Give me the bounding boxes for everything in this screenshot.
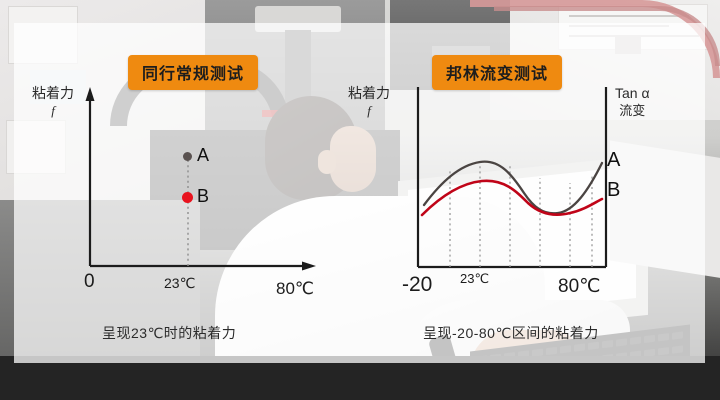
right-x-tick-80c: 80℃ — [558, 275, 600, 298]
right-panel-caption: 呈现-20-80℃区间的粘着力 — [423, 323, 599, 343]
data-point-b[interactable] — [182, 192, 193, 203]
series-a-label: A — [607, 149, 620, 172]
series-b-label: B — [607, 179, 620, 202]
left-x-axis-arrowhead — [302, 262, 316, 271]
curve-series-b[interactable] — [422, 181, 602, 215]
data-point-b-label: B — [197, 186, 209, 207]
right-chart-svg — [362, 23, 705, 363]
left-x-tick-80c: 80℃ — [276, 279, 314, 299]
right-x-tick-23c: 23℃ — [460, 271, 489, 287]
data-point-a-label: A — [197, 145, 209, 166]
content-overlay-card: 同行常规测试 粘着力 f A B 0 23℃ 80℃ 呈现23℃时的粘着力 邦林… — [14, 23, 705, 363]
left-panel-caption: 呈现23℃时的粘着力 — [102, 323, 236, 343]
panel-conventional-test: 同行常规测试 粘着力 f A B 0 23℃ 80℃ 呈现23℃时的粘着力 — [14, 23, 362, 363]
right-x-tick-minus20: -20 — [402, 273, 432, 297]
panel-rheology-test: 邦林流变测试 粘着力 f Tan α 流变 — [362, 23, 705, 363]
left-x-tick-23c: 23℃ — [164, 275, 195, 292]
left-x-tick-0: 0 — [84, 271, 95, 293]
curve-series-a[interactable] — [424, 162, 602, 214]
left-y-axis-arrowhead — [86, 87, 95, 101]
data-point-a[interactable] — [183, 152, 192, 161]
